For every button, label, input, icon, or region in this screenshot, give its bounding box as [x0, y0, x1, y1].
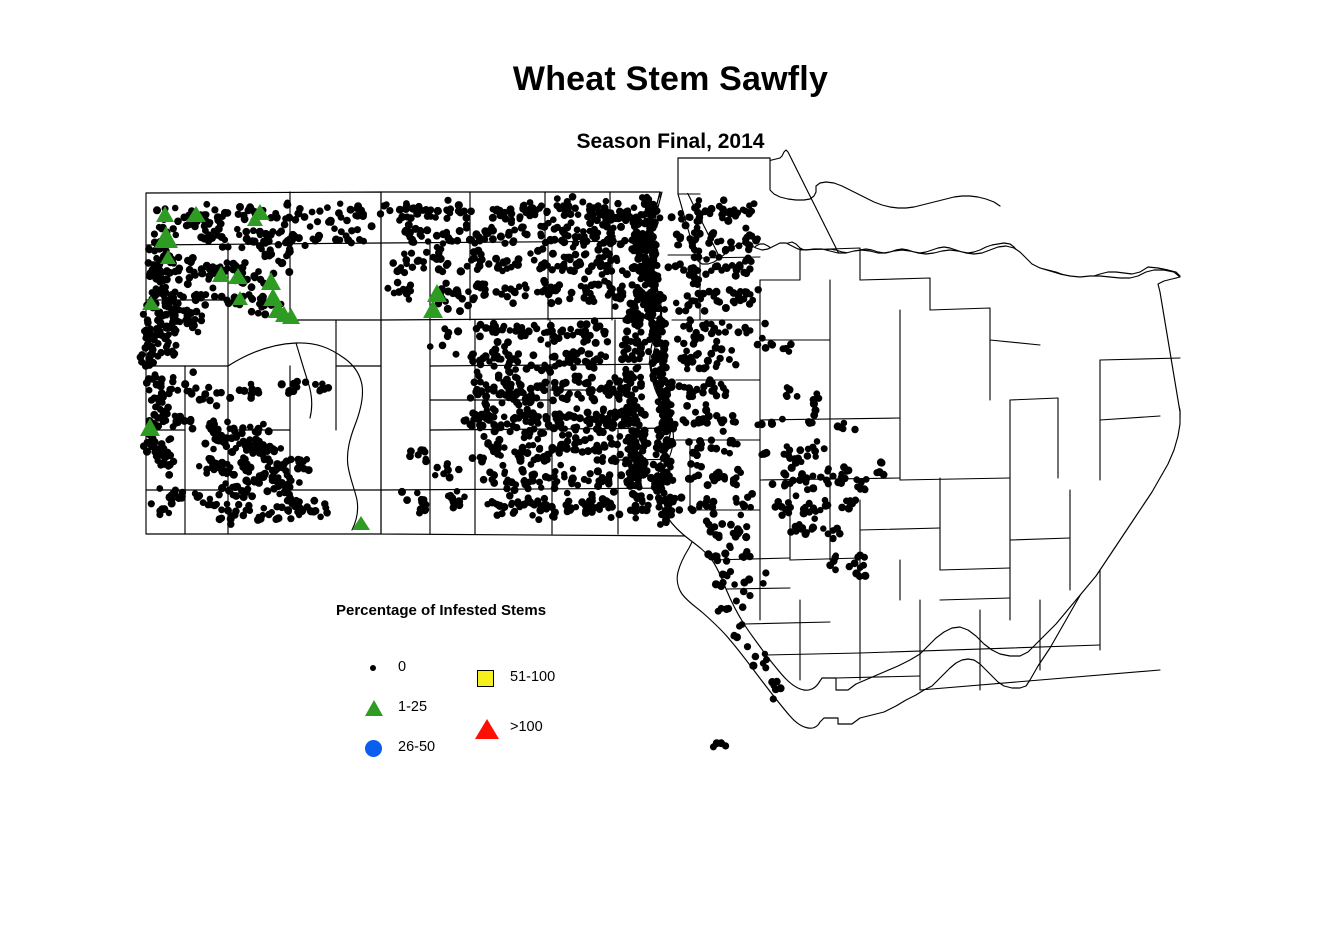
legend-label-26-50: 26-50 — [398, 739, 435, 755]
legend-symbol-1-25 — [360, 694, 388, 722]
survey-map-svg — [0, 0, 1341, 926]
legend-label-over-100: >100 — [510, 719, 543, 735]
mt-line-14 — [336, 320, 381, 366]
map-page: Wheat Stem Sawfly Season Final, 2014 — [0, 0, 1341, 926]
nd-line-h5 — [381, 488, 690, 490]
map-legend: Percentage of Infested Stems 0 1-25 26-5… — [336, 602, 636, 762]
legend-label-51-100: 51-100 — [510, 669, 555, 685]
mt-line-5 — [290, 243, 381, 320]
legend-symbol-zero — [360, 654, 388, 682]
legend-title: Percentage of Infested Stems — [336, 602, 546, 619]
legend-symbol-over-100 — [472, 714, 500, 742]
legend-symbol-51-100 — [472, 664, 500, 692]
legend-label-zero: 0 — [398, 659, 406, 675]
legend-symbol-26-50 — [360, 734, 388, 762]
map-canvas — [0, 0, 1341, 926]
legend-label-1-25: 1-25 — [398, 699, 427, 715]
